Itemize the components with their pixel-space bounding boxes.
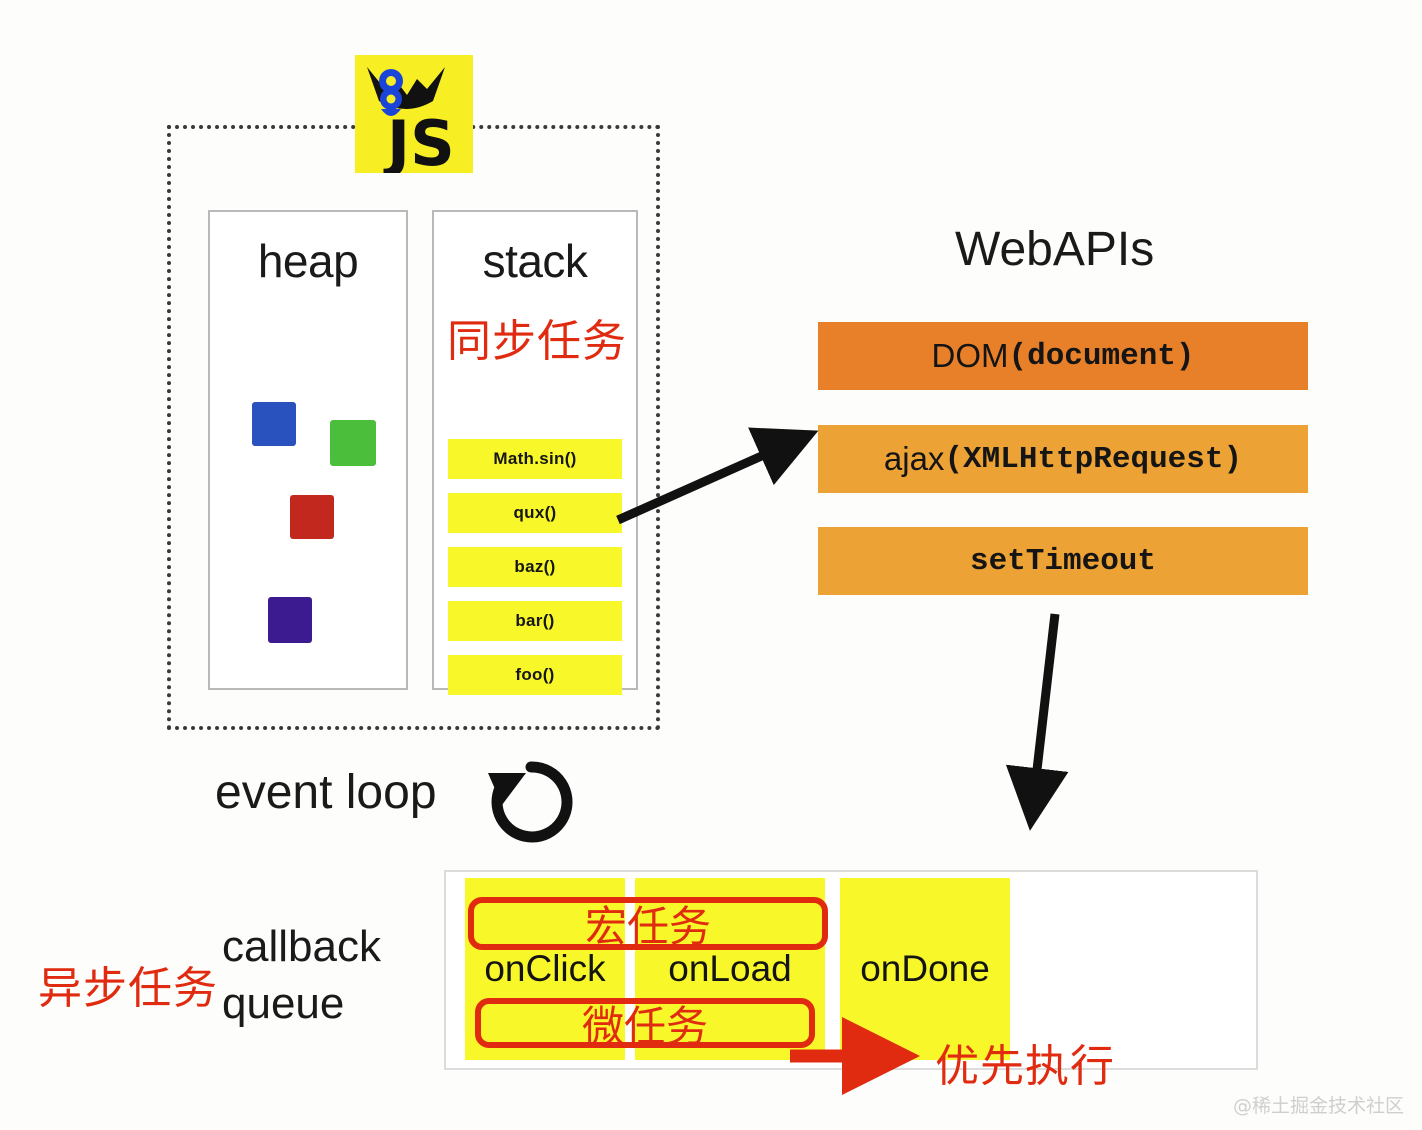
heap-object-green <box>330 420 376 466</box>
heap-title: heap <box>210 234 406 288</box>
stack-frame: Math.sin() <box>448 439 622 479</box>
sync-task-annotation: 同步任务 <box>447 305 627 369</box>
stack-title: stack <box>434 234 636 288</box>
stack-frame: bar() <box>448 601 622 641</box>
webapi-label-mono: (XMLHttpRequest) <box>944 442 1242 477</box>
heap-object-blue <box>252 402 296 446</box>
stack-frame: foo() <box>448 655 622 695</box>
stack-frame: baz() <box>448 547 622 587</box>
arrow-microtask-priority <box>786 1032 921 1084</box>
webapi-bar-settimeout: setTimeout <box>818 527 1308 595</box>
async-task-annotation: 异步任务 <box>38 952 218 1016</box>
webapis-title: WebAPIs <box>955 222 1154 277</box>
webapi-bar-ajax: ajax (XMLHttpRequest) <box>818 425 1308 493</box>
webapi-bar-dom: DOM (document) <box>818 322 1308 390</box>
stack-frame: qux() <box>448 493 622 533</box>
callback-queue-label-line1: callback <box>222 918 381 975</box>
callback-queue-label: callback queue <box>222 918 381 1032</box>
event-loop-circular-arrow-icon <box>484 755 579 850</box>
priority-execution-note: 优先执行 <box>935 1030 1115 1094</box>
callback-queue-label-line2: queue <box>222 975 381 1032</box>
webapi-label-sans: ajax <box>884 440 945 478</box>
svg-text:JS: JS <box>383 107 455 173</box>
heap-object-purple <box>268 597 312 643</box>
heap-panel: heap <box>208 210 408 690</box>
diagram-canvas: JS heap stack Math.sin() qux() baz() bar… <box>0 0 1422 1130</box>
webapi-label-sans: DOM <box>931 337 1008 375</box>
call-stack-panel: stack Math.sin() qux() baz() bar() foo() <box>432 210 638 690</box>
arrow-settimeout-to-queue <box>1000 608 1120 853</box>
macrotask-callout: 宏任务 <box>468 897 828 950</box>
webapi-label-mono: setTimeout <box>970 544 1156 579</box>
javascript-logo-icon: JS <box>355 55 473 173</box>
arrow-stack-to-webapis <box>610 420 830 530</box>
webapi-label-mono: (document) <box>1008 339 1194 374</box>
microtask-callout: 微任务 <box>475 998 815 1048</box>
event-loop-label: event loop <box>215 765 437 820</box>
watermark: @稀土掘金技术社区 <box>1233 1091 1404 1118</box>
heap-object-red <box>290 495 334 539</box>
